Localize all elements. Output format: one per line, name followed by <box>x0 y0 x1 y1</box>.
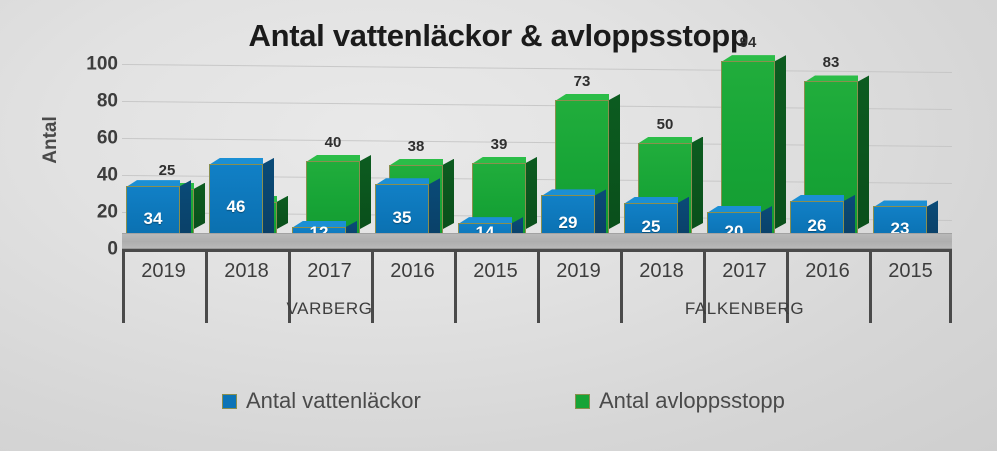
bar-series-layer: 25341846401238353914732950259420832623 <box>122 64 952 249</box>
legend-item-avloppsstopp[interactable]: Antal avloppsstopp <box>575 388 785 414</box>
category-label-2016: 2016 <box>786 260 869 283</box>
category-label-2017: 2017 <box>288 260 371 283</box>
category-tick <box>949 249 952 323</box>
bar-value-label: 25 <box>134 162 200 179</box>
chart-title: Antal vattenläckor & avloppsstopp <box>0 18 997 54</box>
category-axis: 20192018201720162015VARBERG2019201820172… <box>122 249 952 327</box>
legend-label: Antal avloppsstopp <box>599 388 785 414</box>
bar-value-label: 34 <box>126 209 180 229</box>
y-axis-title: Antal <box>40 85 62 195</box>
category-label-2016: 2016 <box>371 260 454 283</box>
y-tick-label: 40 <box>60 166 118 185</box>
legend-label: Antal vattenläckor <box>246 388 421 414</box>
legend-swatch-icon <box>222 394 237 409</box>
category-label-2018: 2018 <box>205 260 288 283</box>
bar-side-face <box>609 94 620 229</box>
category-label-2019: 2019 <box>537 260 620 283</box>
group-label-varberg: VARBERG <box>122 299 537 319</box>
bar-value-label: 35 <box>375 208 429 228</box>
bar-value-label: 94 <box>715 34 781 51</box>
bar-side-face <box>443 159 454 229</box>
category-label-2017: 2017 <box>703 260 786 283</box>
plot-area: 25341846401238353914732950259420832623 <box>122 64 952 249</box>
bar-side-face <box>692 137 703 230</box>
group-label-falkenberg: FALKENBERG <box>537 299 952 319</box>
y-tick-label: 60 <box>60 129 118 148</box>
bar-value-label: 39 <box>466 136 532 153</box>
chart-container: Antal vattenläckor & avloppsstopp Antal … <box>0 0 997 451</box>
y-tick-label: 0 <box>60 240 118 259</box>
bar-value-label: 50 <box>632 116 698 133</box>
bar-side-face <box>277 196 288 229</box>
bar-value-label: 38 <box>383 138 449 155</box>
legend-item-vattenlackor[interactable]: Antal vattenläckor <box>222 388 421 414</box>
bar-value-label: 40 <box>300 134 366 151</box>
bar-side-face <box>858 75 869 229</box>
bar-value-label: 46 <box>209 197 263 217</box>
bar-value-label: 29 <box>541 213 595 233</box>
bar-side-face <box>263 158 274 243</box>
y-tick-label: 20 <box>60 203 118 222</box>
chart-legend: Antal vattenläckorAntal avloppsstopp <box>0 388 997 422</box>
bar-value-label: 83 <box>798 54 864 71</box>
y-tick-label: 100 <box>60 55 118 74</box>
y-tick-label: 80 <box>60 92 118 111</box>
category-label-2015: 2015 <box>454 260 537 283</box>
category-label-2018: 2018 <box>620 260 703 283</box>
bar-side-face <box>775 55 786 229</box>
bar-side-face <box>526 157 537 229</box>
legend-swatch-icon <box>575 394 590 409</box>
bar-side-face <box>194 183 205 229</box>
category-label-2015: 2015 <box>869 260 952 283</box>
category-label-2019: 2019 <box>122 260 205 283</box>
bar-value-label: 73 <box>549 73 615 90</box>
bar-side-face <box>360 155 371 229</box>
y-axis-ticks: 020406080100 <box>60 64 118 249</box>
